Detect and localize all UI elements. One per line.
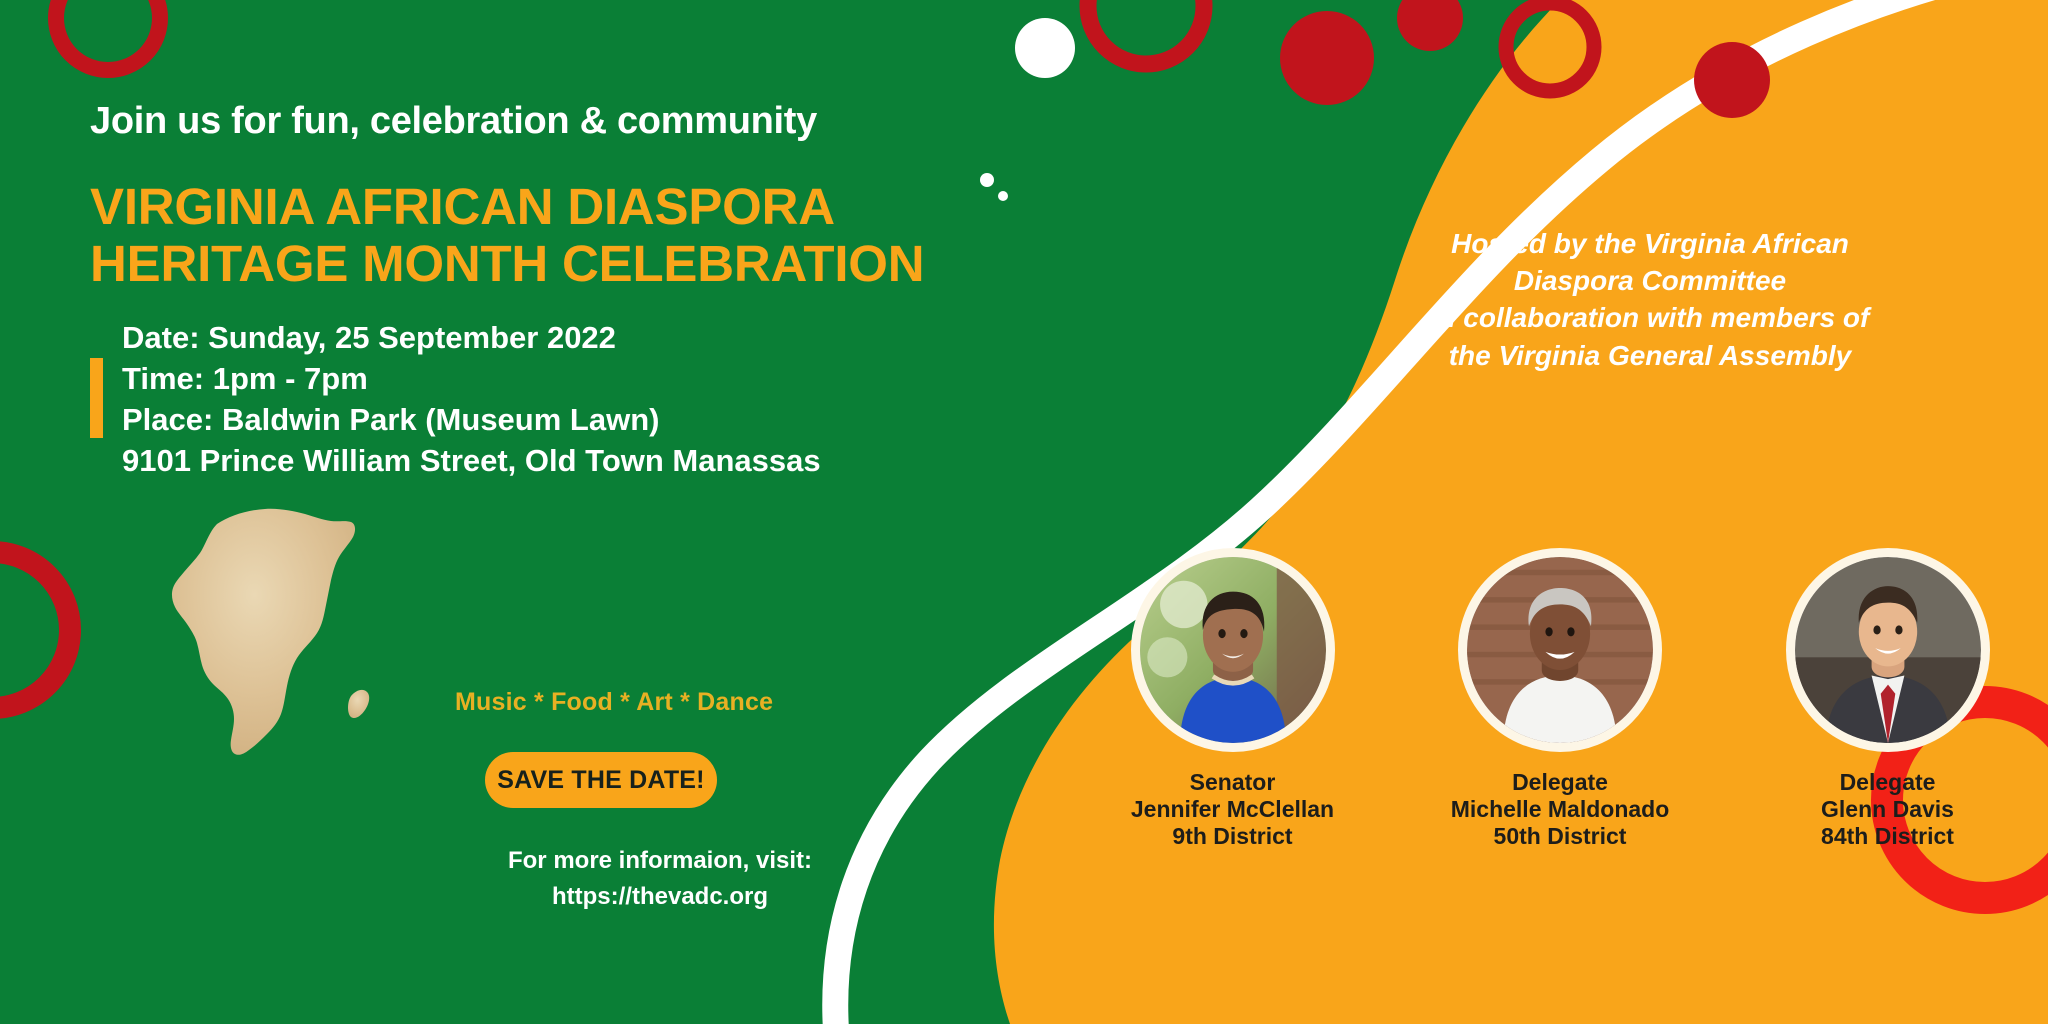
speaker-title: Senator [1090,769,1375,796]
detail-date: Date: Sunday, 25 September 2022 [122,318,862,359]
headline-line-2: Heritage Month Celebration [90,235,870,292]
speaker-title: Delegate [1745,769,2030,796]
red-dot-on-swoosh [1694,42,1770,118]
event-flyer: Join us for fun, celebration & community… [0,0,2048,1024]
hosted-by-text: Hosted by the Virginia African Diaspora … [1265,225,2035,374]
page-title: Virginia African Diaspora Heritage Month… [90,178,870,292]
speaker-caption: Delegate Glenn Davis 84th District [1745,769,2030,850]
website-link[interactable]: https://thevadc.org [420,879,900,915]
more-info-label: For more informaion, visit: [420,843,900,879]
white-dot-top [1015,18,1075,78]
details-lines: Date: Sunday, 25 September 2022 Time: 1p… [122,318,862,482]
left-content-column: Join us for fun, celebration & community… [0,0,860,1024]
speaker-district: 84th District [1745,823,2030,850]
speaker-caption: Delegate Michelle Maldonado 50th Distric… [1418,769,1703,850]
speakers-list: Senator Jennifer McClellan 9th District [1090,548,2030,968]
kicker-text: Join us for fun, celebration & community [90,100,850,144]
save-the-date-button[interactable]: SAVE THE DATE! [485,752,717,808]
detail-place: Place: Baldwin Park (Museum Lawn) [122,400,862,441]
detail-address: 9101 Prince William Street, Old Town Man… [122,441,862,482]
activities-text: Music * Food * Art * Dance [455,688,855,717]
hosted-line-1: Hosted by the Virginia African [1265,225,2035,262]
portrait-michelle-maldonado [1467,557,1653,743]
detail-time: Time: 1pm - 7pm [122,359,862,400]
speaker-name: Michelle Maldonado [1418,796,1703,823]
list-item: Senator Jennifer McClellan 9th District [1090,548,1375,850]
list-item: Delegate Michelle Maldonado 50th Distric… [1418,548,1703,850]
red-dot-top-a [1280,11,1374,105]
speaker-name: Jennifer McClellan [1090,796,1375,823]
hosted-line-3: in collaboration with members of [1265,299,2035,336]
speaker-name: Glenn Davis [1745,796,2030,823]
portrait-glenn-davis [1795,557,1981,743]
more-info-block: For more informaion, visit: https://thev… [420,843,900,915]
portrait-jennifer-mcclellan [1140,557,1326,743]
speaker-district: 50th District [1418,823,1703,850]
avatar [1786,548,1990,752]
white-dot-small-a [980,173,994,187]
speaker-title: Delegate [1418,769,1703,796]
hosted-line-2: Diaspora Committee [1265,262,2035,299]
avatar [1131,548,1335,752]
details-accent-bar [90,358,103,438]
avatar [1458,548,1662,752]
speaker-caption: Senator Jennifer McClellan 9th District [1090,769,1375,850]
speaker-district: 9th District [1090,823,1375,850]
list-item: Delegate Glenn Davis 84th District [1745,548,2030,850]
hosted-line-4: the Virginia General Assembly [1265,337,2035,374]
white-dot-small-b [998,191,1008,201]
headline-line-1: Virginia African Diaspora [90,178,870,235]
